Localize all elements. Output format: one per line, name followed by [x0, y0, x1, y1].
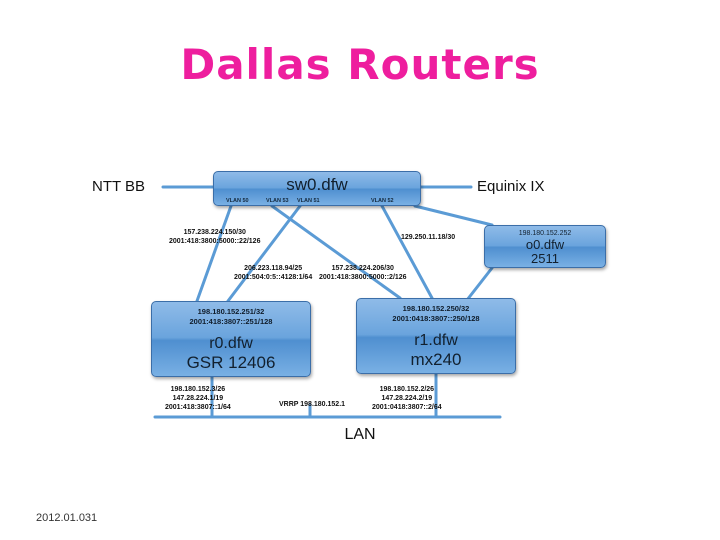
r0-name: r0.dfw	[152, 334, 310, 353]
link-vlan53-r1	[272, 206, 400, 298]
oob-model: 2511	[485, 252, 605, 266]
lan-right-ipv6: 2001:0418:3807::2/64	[372, 403, 442, 412]
slide-footer-date: 2012.01.031	[36, 512, 97, 524]
slide-canvas: Dallas Routers NTT BB Equinix IX LAN sw0…	[0, 0, 720, 540]
switch-port-vlan-53: VLAN 53	[266, 198, 289, 204]
oob-link-ipv4: 129.250.11.18/30	[401, 233, 455, 242]
switch-port-vlan-51: VLAN 51	[297, 198, 320, 204]
link-label-ntt-uplink: 157.238.224.150/30 2001:418:3800:5000::2…	[169, 228, 260, 246]
ntt-uplink2-ipv6: 2001:418:3800:5000::2/126	[319, 273, 407, 282]
r1-model: mx240	[357, 350, 515, 370]
lan-label-left: 198.180.152.3/26 147.28.224.1/19 2001:41…	[165, 385, 231, 412]
label-equinix-ix: Equinix IX	[477, 178, 545, 195]
link-vlan52-r1	[382, 206, 432, 298]
r1-name: r1.dfw	[357, 331, 515, 350]
switch-port-vlan-52: VLAN 52	[371, 198, 394, 204]
lan-left-ipv4-a: 198.180.152.3/26	[165, 385, 231, 394]
r0-ipv6: 2001:418:3807::251/128	[152, 317, 310, 327]
node-sw0-dfw[interactable]: sw0.dfw VLAN 50 VLAN 53 VLAN 51 VLAN 52	[213, 171, 421, 206]
lan-left-ipv4-b: 147.28.224.1/19	[165, 394, 231, 403]
slide-title: Dallas Routers	[0, 40, 720, 89]
link-label-ntt-uplink2: 157.238.224.206/30 2001:418:3800:5000::2…	[319, 264, 407, 282]
ix-peering-ipv4: 206.223.118.94/25	[234, 264, 312, 273]
r0-ipv4: 198.180.152.251/32	[152, 307, 310, 317]
r1-ipv6: 2001:0418:3807::250/128	[357, 314, 515, 324]
ntt-uplink-ipv4: 157.238.224.150/30	[169, 228, 260, 237]
node-o0-dfw[interactable]: 198.180.152.252 o0.dfw 2511	[484, 225, 606, 268]
link-label-oob: 129.250.11.18/30	[401, 233, 455, 242]
node-r0-dfw[interactable]: 198.180.152.251/32 2001:418:3807::251/12…	[151, 301, 311, 377]
link-switch-to-oob	[415, 206, 492, 225]
ntt-uplink-ipv6: 2001:418:3800:5000::22/126	[169, 237, 260, 246]
link-vlan51-r0	[228, 206, 300, 301]
lan-right-ipv4-a: 198.180.152.2/26	[372, 385, 442, 394]
lan-right-ipv4-b: 147.28.224.2/19	[372, 394, 442, 403]
switch-name: sw0.dfw	[214, 175, 420, 195]
lan-label-right: 198.180.152.2/26 147.28.224.2/19 2001:04…	[372, 385, 442, 412]
r0-model: GSR 12406	[152, 353, 310, 373]
ix-peering-ipv6: 2001:504:0:5::4128:1/64	[234, 273, 312, 282]
lan-left-ipv6: 2001:418:3807::1/64	[165, 403, 231, 412]
lan-label-vrrp: VRRP 198.180.152.1	[279, 400, 345, 409]
link-label-ix-peering: 206.223.118.94/25 2001:504:0:5::4128:1/6…	[234, 264, 312, 282]
oob-name: o0.dfw	[485, 238, 605, 252]
ntt-uplink2-ipv4: 157.238.224.206/30	[319, 264, 407, 273]
r1-ipv4: 198.180.152.250/32	[357, 304, 515, 314]
link-vlan50-r0	[197, 206, 231, 301]
node-r1-dfw[interactable]: 198.180.152.250/32 2001:0418:3807::250/1…	[356, 298, 516, 374]
label-ntt-bb: NTT BB	[92, 178, 145, 195]
switch-port-vlan-50: VLAN 50	[226, 198, 249, 204]
label-lan: LAN	[0, 426, 720, 444]
